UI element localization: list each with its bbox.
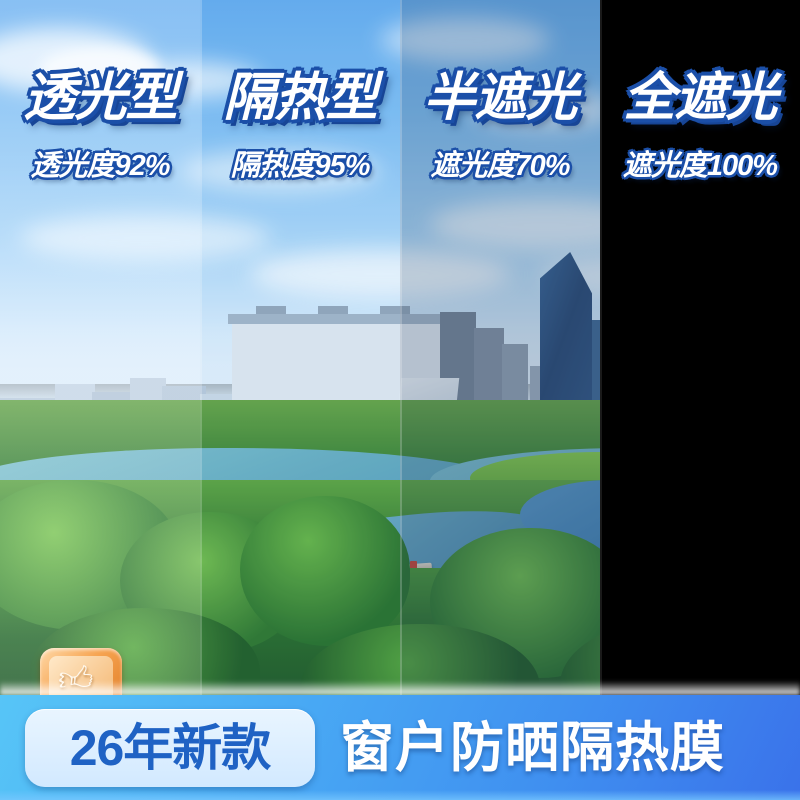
panel-2-subtitle: 隔热度95% bbox=[200, 152, 400, 181]
panel-4-text-group: 全遮光 遮光度100% bbox=[600, 72, 800, 181]
panel-3-subtitle: 遮光度70% bbox=[400, 152, 600, 181]
new-model-label: 26年新款 bbox=[70, 723, 271, 773]
banner-headline: 窗户防晒隔热膜 bbox=[340, 711, 725, 785]
panel-3-title: 半遮光 bbox=[400, 72, 600, 124]
panel-4-title: 全遮光 bbox=[600, 72, 800, 124]
panel-2-title: 隔热型 bbox=[200, 72, 400, 124]
product-ad-image: 透光型 透光度92% 隔热型 隔热度95% 半遮光 遮光度70% 全遮光 遮光度… bbox=[0, 0, 800, 800]
panel-3-text-group: 半遮光 遮光度70% bbox=[400, 72, 600, 181]
banner-bottom-glow bbox=[0, 790, 800, 800]
banner-top-glow bbox=[0, 681, 800, 695]
panel-1-title: 透光型 bbox=[0, 72, 200, 124]
bottom-banner: 26年新款 窗户防晒隔热膜 bbox=[0, 695, 800, 800]
panel-4-subtitle: 遮光度100% bbox=[600, 152, 800, 181]
new-model-pill: 26年新款 bbox=[25, 709, 315, 787]
panel-1-text-group: 透光型 透光度92% bbox=[0, 72, 200, 181]
panel-2-text-group: 隔热型 隔热度95% bbox=[200, 72, 400, 181]
panel-1-subtitle: 透光度92% bbox=[0, 152, 200, 181]
